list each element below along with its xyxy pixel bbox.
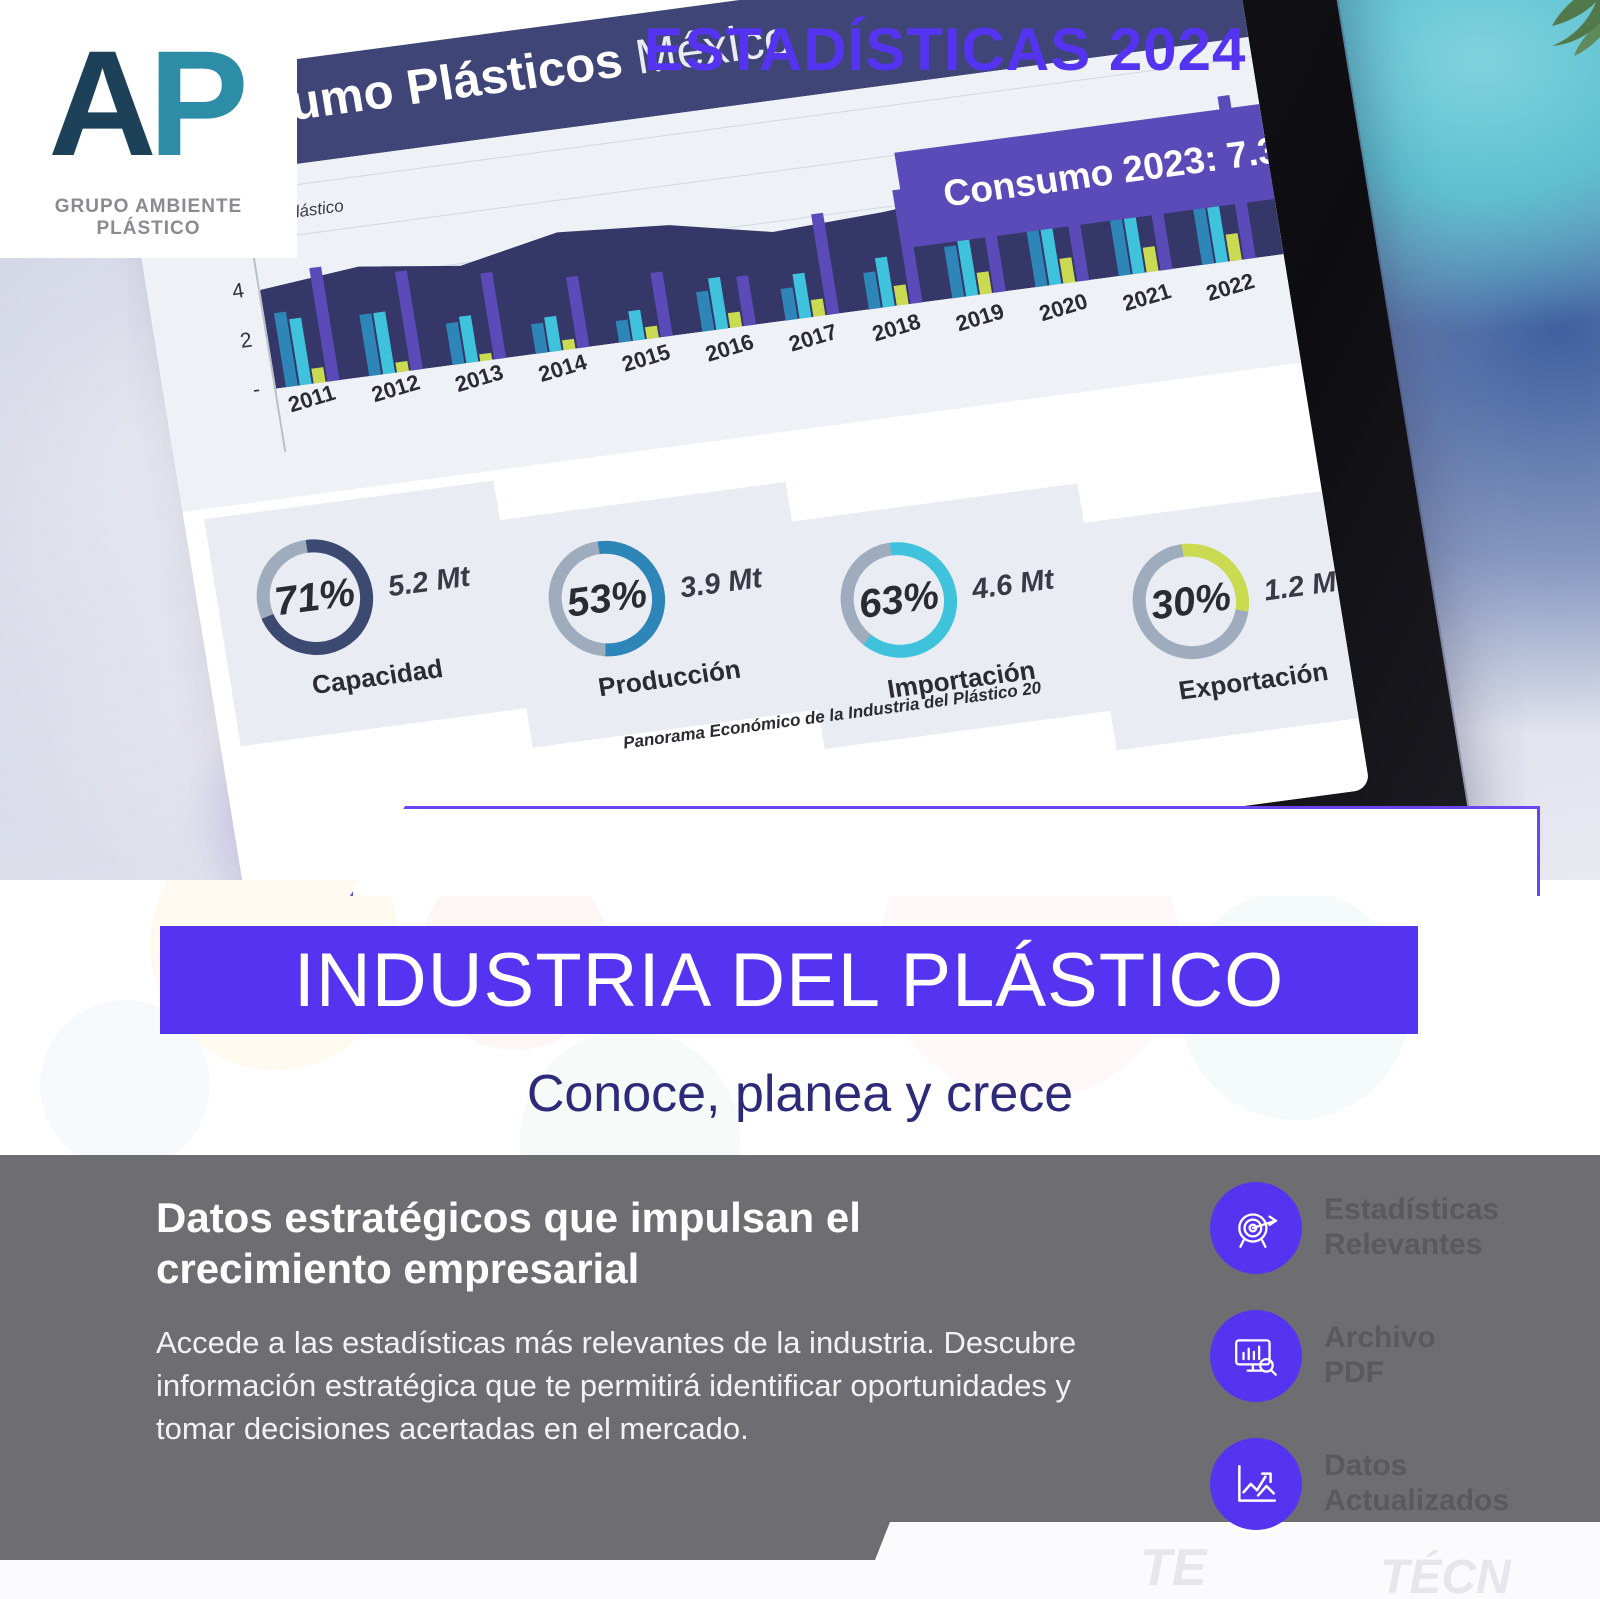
- y-axis-tick: 4: [206, 279, 246, 307]
- footer-heading: Datos estratégicos que impulsan el creci…: [156, 1192, 1056, 1294]
- chart-bar: [645, 325, 659, 339]
- x-axis-tick-label: 2020: [1036, 288, 1091, 327]
- eyebrow-banner: [0, 806, 1600, 896]
- feature-badge[interactable]: Archivo PDF: [1210, 1292, 1600, 1420]
- chart-bar: [1059, 257, 1075, 283]
- feature-badge-label: Estadísticas Relevantes: [1324, 1193, 1499, 1263]
- logo-badge: A P GRUPO AMBIENTE PLÁSTICO: [0, 0, 297, 258]
- kpi-percent: 71%: [272, 570, 359, 625]
- watermark-text-2: TE: [1140, 1538, 1206, 1598]
- x-axis-tick-label: 2016: [702, 329, 757, 368]
- chart-bar: [728, 312, 742, 328]
- kpi-label: Producción: [596, 654, 743, 704]
- chart-bar: [1143, 246, 1159, 272]
- logo-letter-p: P: [149, 28, 249, 178]
- hero-title: INDUSTRIA DEL PLÁSTICO: [294, 937, 1285, 1024]
- kpi-label: Capacidad: [310, 653, 445, 701]
- chart-bar: [976, 271, 991, 295]
- kpi-donut-ring: 53%: [540, 534, 674, 664]
- kpi-donut-ring: 30%: [1124, 536, 1258, 666]
- kpi-value: 4.6 Mt: [969, 563, 1056, 606]
- hero-tagline: Conoce, planea y crece: [0, 1064, 1600, 1124]
- y-axis-tick: -: [222, 378, 262, 406]
- chart-bar-group: [694, 273, 756, 332]
- chart-bar-group: [524, 275, 589, 354]
- kpi-label: Exportación: [1176, 656, 1330, 706]
- chart-bar: [811, 298, 826, 317]
- x-axis-tick-label: 2017: [786, 319, 841, 358]
- kpi-card: 53%3.9 MtProducción: [496, 482, 822, 748]
- x-axis-tick-label: 2013: [452, 359, 507, 398]
- trend-up-icon: [1210, 1438, 1302, 1530]
- kpi-percent: 53%: [563, 571, 650, 626]
- x-axis-tick-label: 2018: [869, 309, 924, 348]
- chart-bar: [479, 352, 492, 361]
- chart-bar: [894, 284, 909, 305]
- x-axis-tick-label: 2014: [535, 349, 590, 388]
- kpi-donut-ring: 71%: [248, 532, 382, 662]
- kpi-value: 5.2 Mt: [386, 560, 473, 603]
- eyebrow-banner-shape: [350, 806, 1540, 896]
- feature-badge-label: Datos Actualizados: [1324, 1449, 1509, 1519]
- chart-bar: [616, 319, 631, 343]
- target-icon: [1210, 1182, 1302, 1274]
- kpi-percent: 63%: [855, 572, 942, 627]
- hero-title-block: INDUSTRIA DEL PLÁSTICO: [160, 926, 1418, 1034]
- eyebrow-banner-label: ESTADÍSTICAS 2024: [350, 8, 1540, 90]
- x-axis-tick-label: 2012: [368, 369, 423, 408]
- pdf-report-icon: [1210, 1310, 1302, 1402]
- feature-badge[interactable]: Datos Actualizados: [1210, 1420, 1600, 1548]
- x-axis-tick-label: 2015: [619, 339, 674, 378]
- feature-badge[interactable]: Estadísticas Relevantes: [1210, 1164, 1600, 1292]
- x-axis-tick-label: 2021: [1119, 278, 1174, 317]
- chart-bar: [628, 310, 645, 341]
- kpi-card: 30%1.2 MtExportación: [1080, 485, 1370, 751]
- kpi-donut-ring: 63%: [832, 535, 966, 665]
- logo-subtitle: GRUPO AMBIENTE PLÁSTICO: [0, 196, 297, 240]
- feature-badge-label: Archivo PDF: [1324, 1321, 1436, 1391]
- kpi-value: 3.9 Mt: [678, 562, 765, 605]
- kpi-percent: 30%: [1147, 574, 1234, 629]
- kpi-card: 71%5.2 MtCapacidad: [204, 481, 530, 747]
- logo-letter-a: A: [48, 28, 148, 178]
- chart-bar: [562, 339, 575, 350]
- feature-badge-list: Estadísticas RelevantesArchivo PDFDatos …: [1210, 1164, 1600, 1548]
- watermark-text-3: TÉCN: [1380, 1550, 1511, 1599]
- chart-bar-group: [609, 272, 673, 343]
- y-axis-tick: 2: [214, 329, 254, 357]
- x-axis-tick-label: 2019: [953, 298, 1008, 337]
- footer-body-text: Accede a las estadísticas más relevantes…: [156, 1322, 1156, 1450]
- x-axis-tick-label: 2022: [1203, 268, 1258, 307]
